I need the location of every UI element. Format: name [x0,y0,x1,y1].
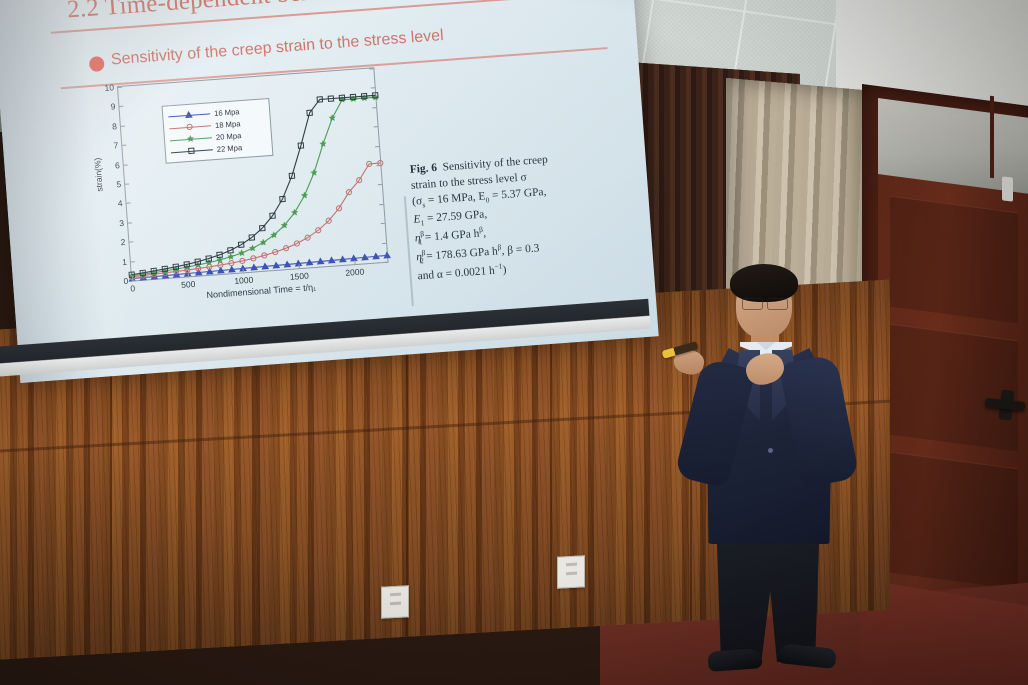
creep-strain-chart: strain(%) 16 Mpa18 Mpa20 Mpa22 Mpa 01234… [99,64,410,313]
presenter-hair [730,264,798,302]
presenter-eye-left [742,298,763,310]
chart-y-tick: 9 [110,102,115,112]
chart-x-tickmark [243,268,244,272]
chart-plot-area: 16 Mpa18 Mpa20 Mpa22 Mpa 012345678910050… [117,67,389,281]
chart-y-tick: 7 [113,140,118,150]
caption-line-7: and α = 0.0021 h [417,264,495,282]
chart-y-tick: 8 [112,121,117,131]
legend-label: 20 Mpa [216,131,242,142]
chart-x-tick: 1000 [234,275,254,286]
caption-line-3b: = 16 MPa, E [425,191,486,207]
legend-marker-triangle [183,110,195,121]
legend-marker-square [186,145,198,156]
legend-label: 18 Mpa [215,119,241,130]
caption-line-4-val: = 27.59 GPa, [424,209,488,226]
chart-y-tick: 0 [123,276,128,286]
wall-outlet-left[interactable] [381,585,409,618]
caption-line-3c: = 5.37 GPa, [489,186,547,202]
chart-x-tick: 1500 [290,271,310,282]
legend-label: 16 Mpa [214,107,240,118]
presenter-trousers [712,530,824,662]
figure-caption: Fig. 6 Sensitivity of the creep strain t… [409,149,597,284]
presenter-shoe-right [777,643,837,669]
presenter-eye-right [767,298,788,310]
chart-x-axis-label: Nondimensional Time = t/η₁ [132,277,390,306]
chart-y-tick: 10 [104,82,114,93]
door-transom-divider [990,96,994,179]
chart-x-tick: 2000 [345,266,365,277]
chart-y-tick: 2 [120,237,125,247]
door-latch-icon [1002,176,1013,201]
chart-x-tick: 500 [181,279,196,290]
chart-y-tick: 3 [119,218,124,228]
presenter [650,258,880,685]
caption-line-6-tail: , β = 0.3 [501,242,540,257]
chart-series [122,160,390,279]
door-panel-mid [890,324,1018,452]
chart-x-tickmark [187,272,188,276]
chart-x-tick: 0 [130,283,135,293]
chart-y-tick: 5 [116,179,121,189]
chart-x-tickmark [298,264,299,268]
chart-legend: 16 Mpa18 Mpa20 Mpa22 Mpa [162,98,274,164]
chart-y-tick: 1 [122,256,127,266]
caption-line-5-val: = 1.4 GPa h [422,228,480,244]
legend-marker-star [185,133,197,144]
lecture-room-scene: 2.2 Time-dependent behavior: salt rock S… [0,0,1028,685]
chart-x-tickmark [354,260,355,264]
chart-y-tickmark [384,262,388,263]
bullet-dot-icon [89,56,105,72]
door-panel-upper [890,196,1018,324]
wall-outlet-right[interactable] [557,555,585,588]
legend-line-sample [171,144,214,157]
chart-x-tickmark [132,276,133,280]
projection-screen-assembly: 2.2 Time-dependent behavior: salt rock S… [0,0,644,426]
figure-label: Fig. 6 [409,162,437,176]
legend-marker-circle [184,121,196,132]
caption-line-3a: (σ [412,195,423,208]
chart-y-tick: 4 [117,198,122,208]
legend-label: 22 Mpa [216,143,242,154]
presenter-shoe-left [707,648,762,672]
door-panel-lower [890,452,1018,590]
caption-line-7-tail: ) [502,264,507,276]
chart-y-tick: 6 [115,160,120,170]
presenter-jacket-button [768,448,773,453]
slide-title: 2.2 Time-dependent behavior: salt rock [66,0,467,24]
caption-line-5-tail: , [483,227,487,239]
caption-line-6-val: = 178.63 GPa h [423,245,498,262]
